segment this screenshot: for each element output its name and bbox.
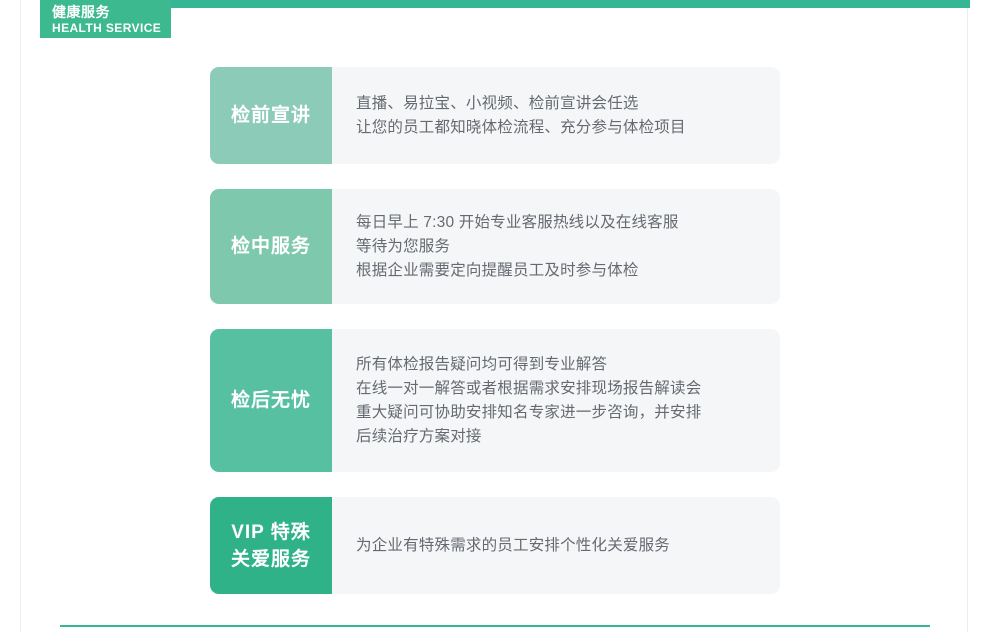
service-card-line: 后续治疗方案对接 (356, 425, 758, 449)
header-tab: 健康服务 HEALTH SERVICE (40, 0, 171, 38)
service-card-line: 等待为您服务 (356, 235, 758, 259)
service-card-line: 直播、易拉宝、小视频、检前宣讲会任选 (356, 92, 758, 116)
service-card-body: 为企业有特殊需求的员工安排个性化关爱服务 (332, 497, 780, 594)
top-accent-bar (171, 0, 970, 8)
service-card-line: 所有体检报告疑问均可得到专业解答 (356, 353, 758, 377)
header-tab-title-en: HEALTH SERVICE (52, 21, 171, 35)
service-card-line: 根据企业需要定向提醒员工及时参与体检 (356, 259, 758, 283)
service-card-line: 让您的员工都知晓体检流程、充分参与体检项目 (356, 116, 758, 140)
service-card: 检前宣讲 直播、易拉宝、小视频、检前宣讲会任选 让您的员工都知晓体检流程、充分参… (210, 67, 780, 164)
service-card-line: 每日早上 7:30 开始专业客服热线以及在线客服 (356, 211, 758, 235)
service-card: 检中服务 每日早上 7:30 开始专业客服热线以及在线客服 等待为您服务 根据企… (210, 189, 780, 304)
service-card-body: 直播、易拉宝、小视频、检前宣讲会任选 让您的员工都知晓体检流程、充分参与体检项目 (332, 67, 780, 164)
bottom-divider (60, 625, 930, 627)
header-tab-title-zh: 健康服务 (52, 4, 171, 21)
service-card-line: 为企业有特殊需求的员工安排个性化关爱服务 (356, 534, 758, 558)
service-card-list: 检前宣讲 直播、易拉宝、小视频、检前宣讲会任选 让您的员工都知晓体检流程、充分参… (210, 67, 780, 594)
service-card-label: 检前宣讲 (210, 67, 332, 164)
service-card-label: VIP 特殊 关爱服务 (210, 497, 332, 594)
service-card: 检后无忧 所有体检报告疑问均可得到专业解答 在线一对一解答或者根据需求安排现场报… (210, 329, 780, 472)
service-card-body: 所有体检报告疑问均可得到专业解答 在线一对一解答或者根据需求安排现场报告解读会 … (332, 329, 780, 472)
service-card: VIP 特殊 关爱服务 为企业有特殊需求的员工安排个性化关爱服务 (210, 497, 780, 594)
service-card-body: 每日早上 7:30 开始专业客服热线以及在线客服 等待为您服务 根据企业需要定向… (332, 189, 780, 304)
service-card-line: 重大疑问可协助安排知名专家进一步咨询，并安排 (356, 401, 758, 425)
service-card-label: 检中服务 (210, 189, 332, 304)
service-card-line: 在线一对一解答或者根据需求安排现场报告解读会 (356, 377, 758, 401)
service-card-label: 检后无忧 (210, 329, 332, 472)
